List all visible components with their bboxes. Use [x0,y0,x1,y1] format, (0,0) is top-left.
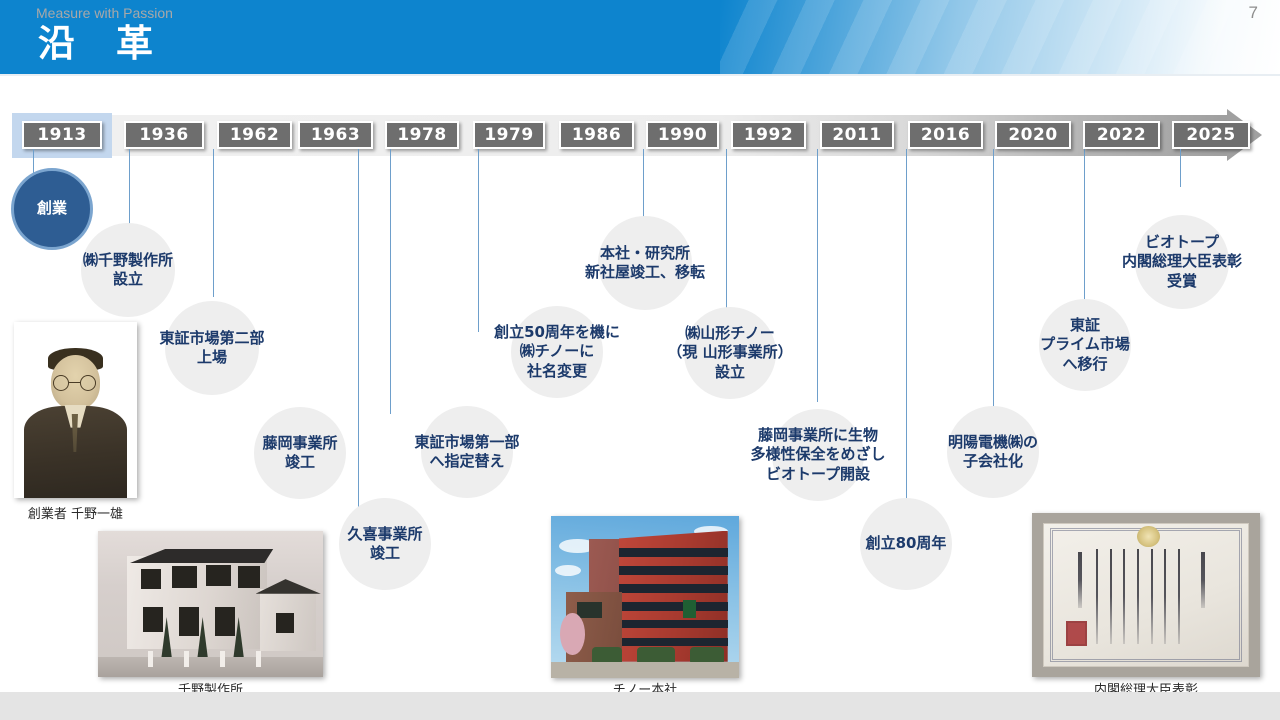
certificate-text-column [1164,549,1166,644]
oldbldg-window [276,613,294,633]
event-label-line: 創立80周年 [866,534,947,553]
certificate-title-text-column [1201,552,1205,608]
year-badge-2022[interactable]: 2022 [1083,121,1160,149]
caption-founder: 創業者 千野一雄 [8,503,143,522]
event-label-biotope-open: 藤岡事業所に生物多様性保全をめざしビオトープ開設 [751,426,886,484]
event-circle-hq-lab-new[interactable]: 本社・研究所新社屋竣工、移転 [598,216,692,310]
hq-window-band [619,548,728,557]
event-label-yamagata-chino: ㈱山形チノー（現 山形事業所）設立 [667,324,792,382]
footer-tagline: Measure with Passion [36,5,173,21]
event-label-line: ビオトープ開設 [751,465,886,484]
event-label-line: 東証 [1040,316,1130,335]
oldbldg-window [172,566,197,588]
year-badge-1992[interactable]: 1992 [731,121,806,149]
event-circle-fujioka-kenchiku[interactable]: 藤岡事業所竣工 [254,407,346,499]
event-label-pm-award: ビオトープ内閣総理大臣表彰受賞 [1122,233,1242,291]
event-circle-tse-2nd[interactable]: 東証市場第二部上場 [165,301,259,395]
hq-ground [551,662,739,678]
page-number: 7 [1249,3,1258,23]
event-label-line: 藤岡事業所 [262,434,337,453]
event-label-line: 藤岡事業所に生物 [751,426,886,445]
year-badge-2016[interactable]: 2016 [908,121,983,149]
hq-annex-window [577,602,601,618]
slide-header [0,0,1280,76]
connector-line-1978 [390,149,391,414]
hq-cloud [555,565,581,576]
hq-window-band [619,638,728,647]
hq-signboard [683,600,696,618]
oldbldg-fence-post [220,651,226,667]
certificate-signature-column [1078,552,1082,608]
connector-line-2025 [1180,149,1181,187]
oldbldg-window [215,607,235,636]
certificate-text-column [1178,549,1180,644]
event-circle-tse-prime[interactable]: 東証プライム市場へ移行 [1039,299,1131,391]
certificate-gold-crest-icon [1137,526,1160,547]
connector-line-2020 [1084,149,1085,304]
header-bottom-rule [0,74,1280,76]
event-circle-yamagata-chino[interactable]: ㈱山形チノー（現 山形事業所）設立 [684,307,776,399]
event-circle-pm-award[interactable]: ビオトープ内閣総理大臣表彰受賞 [1135,215,1229,309]
year-badge-2020[interactable]: 2020 [995,121,1071,149]
slide-footer [0,692,1280,720]
event-label-tse-prime: 東証プライム市場へ移行 [1040,316,1130,374]
event-circle-chino-seisaku[interactable]: ㈱千野製作所設立 [81,223,175,317]
connector-line-1979 [478,149,479,332]
event-label-meiyo-denki: 明陽電機㈱の子会社化 [948,433,1038,471]
oldbldg-window [143,607,163,632]
oldbldg-window [179,607,199,636]
event-label-fujioka-kenchiku: 藤岡事業所竣工 [262,434,337,472]
certificate-text-column [1123,549,1125,644]
event-label-line: 創立50周年を機に [494,323,620,342]
oldbldg-window [141,569,161,589]
event-label-line: プライム市場 [1040,335,1130,354]
connector-line-1962 [213,149,214,297]
connector-line-1963 [358,149,359,515]
oldbldg-ground [98,657,323,677]
event-label-line: 受賞 [1122,272,1242,291]
slide-canvas: 沿 革 191319361962196319781979198619901992… [0,0,1280,720]
year-badge-1990[interactable]: 1990 [646,121,719,149]
founder-glasses-left [53,375,69,391]
hq-window-band [619,566,728,575]
header-stripe-decoration [720,0,1280,76]
event-circle-meiyo-denki[interactable]: 明陽電機㈱の子会社化 [947,406,1039,498]
year-badge-2011[interactable]: 2011 [820,121,894,149]
event-label-line: 上場 [160,348,265,367]
certificate-text-column [1137,549,1139,644]
event-label-line: 子会社化 [948,452,1038,471]
event-label-line: 創業 [37,199,67,218]
event-label-line: 東証市場第一部 [415,433,520,452]
year-badge-2025[interactable]: 2025 [1172,121,1250,149]
connector-line-1990 [726,149,727,324]
event-circle-biotope-open[interactable]: 藤岡事業所に生物多様性保全をめざしビオトープ開設 [772,409,864,501]
event-label-line: 東証市場第二部 [160,329,265,348]
event-label-line: ㈱チノーに [494,342,620,361]
event-label-line: 本社・研究所 [585,244,705,263]
photo-chino-seisakusho [98,531,323,677]
event-circle-80th-anniv[interactable]: 創立80周年 [860,498,952,590]
event-label-line: （現 山形事業所） [667,343,792,362]
hq-window-band [619,602,728,611]
year-badge-1963[interactable]: 1963 [298,121,373,149]
event-label-kuki-plant: 久喜事業所竣工 [347,525,422,563]
year-badge-1936[interactable]: 1936 [124,121,204,149]
year-badge-1986[interactable]: 1986 [559,121,634,149]
event-label-line: 竣工 [347,544,422,563]
photo-founder [14,322,137,498]
event-label-founding: 創業 [37,199,67,218]
event-label-line: 久喜事業所 [347,525,422,544]
founder-glasses-bridge [69,382,80,384]
event-label-line: へ移行 [1040,355,1130,374]
page-title: 沿 革 [38,13,155,67]
event-label-line: 竣工 [262,453,337,472]
year-badge-1978[interactable]: 1978 [385,121,459,149]
event-label-80th-anniv: 創立80周年 [866,534,947,553]
event-label-line: へ指定替え [415,452,520,471]
event-label-rename-chino: 創立50周年を機に㈱チノーに社名変更 [494,323,620,381]
event-label-line: 設立 [667,363,792,382]
certificate-text-column [1151,549,1153,644]
oldbldg-fence-post [148,651,154,667]
founder-glasses-right [80,375,96,391]
event-label-line: 内閣総理大臣表彰 [1122,252,1242,271]
event-circle-rename-chino[interactable]: 創立50周年を機に㈱チノーに社名変更 [511,306,603,398]
oldbldg-fence-post [184,651,190,667]
event-label-line: ㈱千野製作所 [83,251,173,270]
event-label-line: 多様性保全をめざし [751,445,886,464]
event-label-hq-lab-new: 本社・研究所新社屋竣工、移転 [585,244,705,282]
photo-pm-award-certificate [1032,513,1260,677]
certificate-text-column [1110,549,1112,644]
event-label-line: 新社屋竣工、移転 [585,263,705,282]
connector-line-2016 [993,149,994,407]
event-circle-tse-1st[interactable]: 東証市場第一部へ指定替え [421,406,513,498]
connector-line-2011 [906,149,907,530]
event-label-line: 社名変更 [494,362,620,381]
event-label-line: 明陽電機㈱の [948,433,1038,452]
event-label-tse-2nd: 東証市場第二部上場 [160,329,265,367]
oldbldg-window [206,565,231,587]
oldbldg-fence-post [256,651,262,667]
year-badge-1962[interactable]: 1962 [217,121,292,149]
hq-window-band [619,584,728,593]
hq-window-band [619,620,728,629]
connector-line-1992 [817,149,818,402]
event-label-tse-1st: 東証市場第一部へ指定替え [415,433,520,471]
year-badge-1913[interactable]: 1913 [22,121,102,149]
event-label-chino-seisaku: ㈱千野製作所設立 [83,251,173,289]
event-label-line: 設立 [83,270,173,289]
certificate-red-seal-icon [1066,621,1087,646]
year-badge-1979[interactable]: 1979 [473,121,545,149]
event-label-line: ビオトープ [1122,233,1242,252]
event-label-line: ㈱山形チノー [667,324,792,343]
event-circle-founding[interactable]: 創業 [11,168,93,250]
event-circle-kuki-plant[interactable]: 久喜事業所竣工 [339,498,431,590]
photo-chino-headquarters [551,516,739,678]
oldbldg-window [238,566,261,588]
certificate-text-column [1096,549,1098,644]
hq-cherry-tree [560,613,584,655]
